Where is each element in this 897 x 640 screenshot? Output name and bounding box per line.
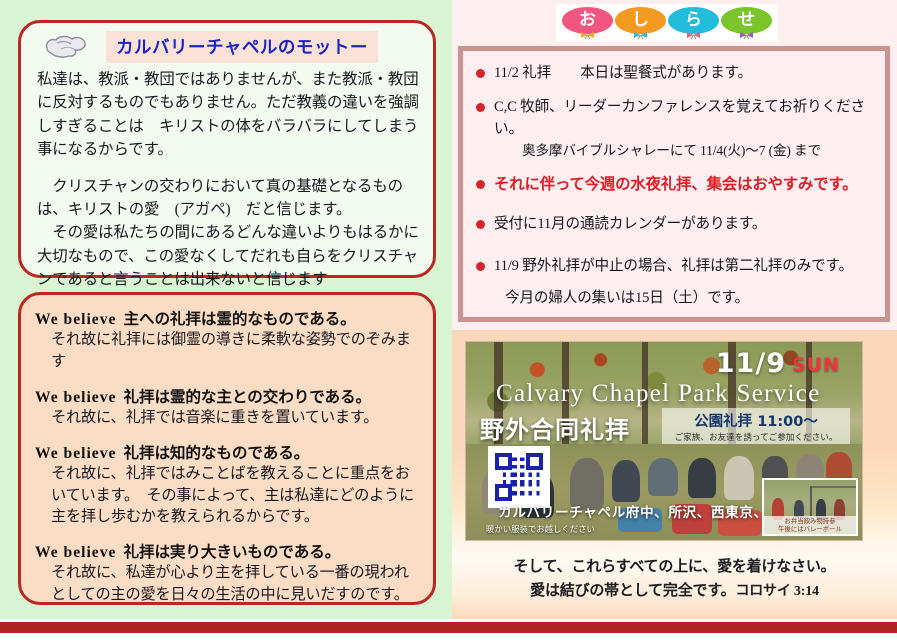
dove-icon — [41, 32, 89, 60]
qr-eye — [495, 453, 512, 470]
believe-heading: We believe主への礼拝は霊的なものである。 — [35, 307, 421, 329]
announcements-box: 11/2 礼拝 本日は聖餐式があります。 C,C 牧師、リーダーカンファレンスを… — [458, 46, 890, 322]
announcement-item: C,C 牧師、リーダーカンファレンスを覚えてお祈りください。 奥多摩バイブルシャ… — [475, 97, 875, 160]
left-column: カルバリーチャペルのモットー 私達は、教派・教団ではありませんが、また教派・教団… — [0, 0, 452, 619]
balloon-0: お — [562, 7, 613, 40]
believe-body: それ故に、私達が心より主を拝している一番の現われとしての主の愛を日々の生活の中に… — [35, 562, 421, 606]
motto-paragraph: 私達は、教派・教団ではありませんが、また教派・教団に反対するものでもありません。… — [37, 68, 419, 162]
qr-eye — [495, 484, 512, 501]
announcement-item: 受付に11月の通読カレンダーがあります。 — [475, 214, 875, 235]
qr-eye — [526, 453, 543, 470]
bullet-icon — [476, 103, 485, 112]
believe-heading-text: 礼拝は実り大きいものである。 — [123, 544, 340, 561]
balloon-char-0: お — [562, 7, 613, 34]
flyer-time-box: 公園礼拝 11:00〜 ご家族、お友達を誘ってご参加ください。 — [662, 408, 850, 444]
crowd-figure — [724, 456, 754, 500]
flyer-inset-photo: お弁当飲み物持参午後にはバレーボール — [762, 478, 858, 536]
bottom-accent-bar — [0, 622, 897, 633]
believe-prefix: We believe — [35, 311, 116, 328]
announcement-item: 11/2 礼拝 本日は聖餐式があります。 — [475, 63, 875, 84]
oshirase-banner: お し ら せ — [556, 4, 778, 42]
believe-item: We believe礼拝は実り大きいものである。 それ故に、私達が心より主を拝し… — [35, 540, 421, 606]
volleyball-net — [810, 486, 856, 488]
flyer-title-en: Calvary Chapel Park Service — [496, 380, 821, 408]
right-column: お し ら せ — [452, 0, 897, 619]
believe-prefix: We believe — [35, 445, 116, 462]
announcement-item-emphasis: それに伴って今週の水夜礼拝、集会はおやすみです。 — [475, 174, 875, 196]
ribbon-icon — [738, 31, 755, 39]
ribbon-icon — [579, 31, 596, 39]
believe-body: それ故に礼拝には御霊の導きに柔軟な姿勢でのぞみます — [35, 329, 421, 373]
believe-heading-text: 礼拝は知的なものである。 — [123, 445, 309, 462]
believe-heading-text: 礼拝は霊的な主との交わりである。 — [123, 389, 371, 406]
flyer-day: SUN — [792, 354, 840, 376]
flyer-time-label: 公園礼拝 11:00〜 — [662, 410, 850, 431]
motto-header: カルバリーチャペルのモットー — [21, 30, 433, 64]
flyer-date: 11/9 — [716, 348, 786, 379]
motto-paragraph: その愛は私たちの間にあるどんな違いよりもはるかに大切なもので、この愛なくしてだれ… — [37, 221, 419, 291]
balloon-1: し — [615, 7, 666, 40]
verse-line-1: そして、これらすべての上に、愛を着けなさい。 — [452, 556, 897, 580]
announcement-tail: 今月の婦人の集いは15日（土）です。 — [475, 286, 875, 307]
believe-heading: We believe礼拝は知的なものである。 — [35, 441, 421, 463]
volleyball-pole — [810, 486, 812, 520]
balloon-2: ら — [668, 7, 719, 40]
motto-body: 私達は、教派・教団ではありませんが、また教派・教団に反対するものでもありません。… — [21, 66, 433, 292]
crowd-figure — [648, 458, 678, 496]
qr-code[interactable] — [488, 446, 550, 508]
ribbon-icon — [632, 31, 649, 39]
believe-body: それ故に、礼拝では音楽に重きを置いています。 — [35, 407, 421, 429]
motto-box: カルバリーチャペルのモットー 私達は、教派・教団ではありませんが、また教派・教団… — [18, 20, 436, 278]
newsletter-page: カルバリーチャペルのモットー 私達は、教派・教団ではありませんが、また教派・教団… — [0, 0, 897, 640]
announcement-item: 11/9 野外礼拝が中止の場合、礼拝は第二礼拝のみです。 — [475, 256, 875, 277]
flyer-title-jp: 野外合同礼拝 — [480, 410, 630, 445]
verse-line-2-text: 愛は結びの帯として完全です。 — [530, 583, 735, 599]
crowd-figure — [688, 458, 716, 498]
motto-paragraph: クリスチャンの交わりにおいて真の基礎となるものは、キリストの愛 (アガペ) だと… — [37, 175, 419, 222]
flyer-small-note: 暖かい服装でお越しください — [486, 523, 595, 535]
believe-item: We believe主への礼拝は霊的なものである。 それ故に礼拝には御霊の導きに… — [35, 307, 421, 373]
bullet-icon — [476, 69, 485, 78]
believe-heading: We believe礼拝は霊的な主との交わりである。 — [35, 385, 421, 407]
bullet-icon — [476, 220, 485, 229]
announcement-text: C,C 牧師、リーダーカンファレンスを覚えてお祈りください。 — [494, 99, 865, 136]
balloon-char-3: せ — [721, 7, 772, 34]
announcement-text: 11/9 野外礼拝が中止の場合、礼拝は第二礼拝のみです。 — [494, 258, 853, 274]
we-believe-box: We believe主への礼拝は霊的なものである。 それ故に礼拝には御霊の導きに… — [18, 292, 436, 605]
verse-line-2: 愛は結びの帯として完全です。コロサイ 3:14 — [452, 580, 897, 604]
park-service-flyer: 11/9 SUN Calvary Chapel Park Service 野外合… — [465, 341, 863, 541]
believe-prefix: We believe — [35, 544, 116, 561]
flyer-inset-caption: お弁当飲み物持参午後にはバレーボール — [764, 516, 856, 534]
announcement-subtext: 奥多摩バイブルシャレーにて 11/4(火)〜7 (金) まで — [494, 141, 875, 161]
believe-prefix: We believe — [35, 389, 116, 406]
believe-heading-text: 主への礼拝は霊的なものである。 — [123, 311, 355, 328]
bullet-icon — [476, 262, 485, 271]
bullet-icon — [476, 180, 485, 189]
announcement-text: 11/2 礼拝 本日は聖餐式があります。 — [494, 65, 752, 81]
ribbon-icon — [685, 31, 702, 39]
believe-item: We believe礼拝は霊的な主との交わりである。 それ故に、礼拝では音楽に重… — [35, 385, 421, 429]
balloon-char-2: ら — [668, 7, 719, 34]
announcement-text: 受付に11月の通読カレンダーがあります。 — [494, 216, 766, 232]
announcement-text: それに伴って今週の水夜礼拝、集会はおやすみです。 — [494, 176, 857, 193]
balloon-3: せ — [721, 7, 772, 40]
bottom-margin — [0, 633, 897, 640]
scripture-verse: そして、これらすべての上に、愛を着けなさい。 愛は結びの帯として完全です。コロサ… — [452, 556, 897, 603]
balloon-char-1: し — [615, 7, 666, 34]
verse-reference: コロサイ 3:14 — [735, 584, 818, 599]
believe-body: それ故に、礼拝ではみことばを教えることに重点をおいています。 その事によって、主… — [35, 463, 421, 529]
believe-heading: We believe礼拝は実り大きいものである。 — [35, 540, 421, 562]
believe-item: We believe礼拝は知的なものである。 それ故に、礼拝ではみことばを教える… — [35, 441, 421, 529]
motto-title: カルバリーチャペルのモットー — [106, 31, 378, 63]
crowd-figure — [612, 460, 640, 502]
flyer-time-note: ご家族、お友達を誘ってご参加ください。 — [662, 431, 850, 443]
